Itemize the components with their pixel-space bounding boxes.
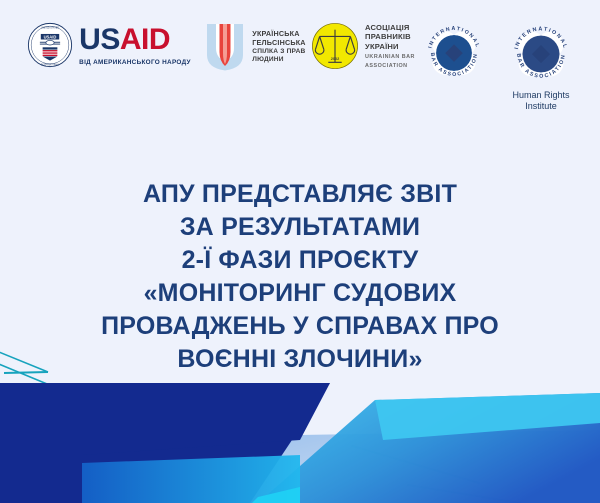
iba-human-rights-institute-logo: INTERNATIONAL BAR ASSOCIATION Human Righ…: [493, 22, 589, 113]
poster-headline: АПУ ПРЕДСТАВЛЯЄ ЗВІТ ЗА РЕЗУЛЬТАТАМИ 2-Ї…: [0, 178, 600, 376]
accent-line-group-right: [352, 446, 520, 503]
uba-ua-line-1: АСОЦІАЦІЯ: [365, 23, 415, 33]
uba-ua-line-2: ПРАВНИКІВ: [365, 32, 415, 42]
uba-year-text: 2002: [331, 57, 340, 61]
navy-block: [0, 383, 330, 503]
usaid-seal-text: USAID: [44, 34, 57, 39]
headline-line-1: АПУ ПРЕДСТАВЛЯЄ ЗВІТ: [0, 178, 600, 211]
usaid-seal-icon: USAID: [27, 22, 73, 68]
uhhru-wordmark: УКРАЇНСЬКА ГЕЛЬСІНСЬКА СПІЛКА З ПРАВ ЛЮД…: [252, 30, 305, 64]
uba-ua-line-3: УКРАЇНИ: [365, 42, 415, 52]
blue-quad-left: [82, 455, 300, 503]
ibahri-caption: Human Rights Institute: [512, 90, 569, 113]
usaid-word-aid: AID: [120, 23, 170, 56]
ukrainian-helsinki-union-logo: УКРАЇНСЬКА ГЕЛЬСІНСЬКА СПІЛКА З ПРАВ ЛЮД…: [199, 22, 311, 72]
headline-line-6: ВОЄННІ ЗЛОЧИНИ»: [0, 343, 600, 376]
usaid-wordmark: USAID: [79, 25, 170, 55]
poster-canvas: USAID: [0, 0, 600, 503]
headline-line-5: ПРОВАДЖЕНЬ У СПРАВАХ ПРО: [0, 310, 600, 343]
uba-en-line-2: ASSOCIATION: [365, 63, 415, 70]
international-bar-association-logo: INTERNATIONAL BAR ASSOCIATION: [415, 22, 493, 84]
headline-line-3: 2-Ї ФАЗИ ПРОЄКТУ: [0, 244, 600, 277]
ibahri-caption-line-1: Human Rights: [512, 90, 569, 101]
headline-line-4: «МОНІТОРИНГ СУДОВИХ: [0, 277, 600, 310]
usaid-tagline: ВІД АМЕРИКАНСЬКОГО НАРОДУ: [79, 59, 191, 66]
uhhru-shield-icon: [204, 22, 246, 72]
uhhru-line-4: ЛЮДИНИ: [252, 56, 305, 64]
cyan-band: [258, 393, 600, 503]
uhhru-line-3: СПІЛКА З ПРАВ: [252, 48, 305, 56]
cyan-sliver: [375, 393, 600, 440]
navy-notch: [0, 383, 330, 503]
usaid-logo: USAID: [19, 22, 199, 68]
pale-blue-wedge: [0, 430, 600, 503]
uba-en-line-1: UKRAINIAN BAR: [365, 54, 415, 61]
headline-line-2: ЗА РЕЗУЛЬТАТАМИ: [0, 211, 600, 244]
partner-logo-bar: USAID: [0, 0, 600, 120]
uhhru-line-2: ГЕЛЬСІНСЬКА: [252, 39, 305, 48]
ibahri-emblem-icon: INTERNATIONAL BAR ASSOCIATION: [509, 22, 573, 86]
cyan-stripe: [252, 487, 300, 503]
usaid-word-us: US: [79, 23, 120, 56]
iba-emblem-icon: INTERNATIONAL BAR ASSOCIATION: [423, 22, 485, 84]
uba-scales-icon: 2002: [311, 22, 359, 70]
uba-wordmark: АСОЦІАЦІЯ ПРАВНИКІВ УКРАЇНИ UKRAINIAN BA…: [365, 23, 415, 70]
ibahri-caption-line-2: Institute: [512, 101, 569, 112]
accent-line-group-left-2: [0, 372, 104, 415]
ukrainian-bar-association-logo: 2002 АСОЦІАЦІЯ ПРАВНИКІВ УКРАЇНИ UKRAINI…: [311, 22, 415, 70]
